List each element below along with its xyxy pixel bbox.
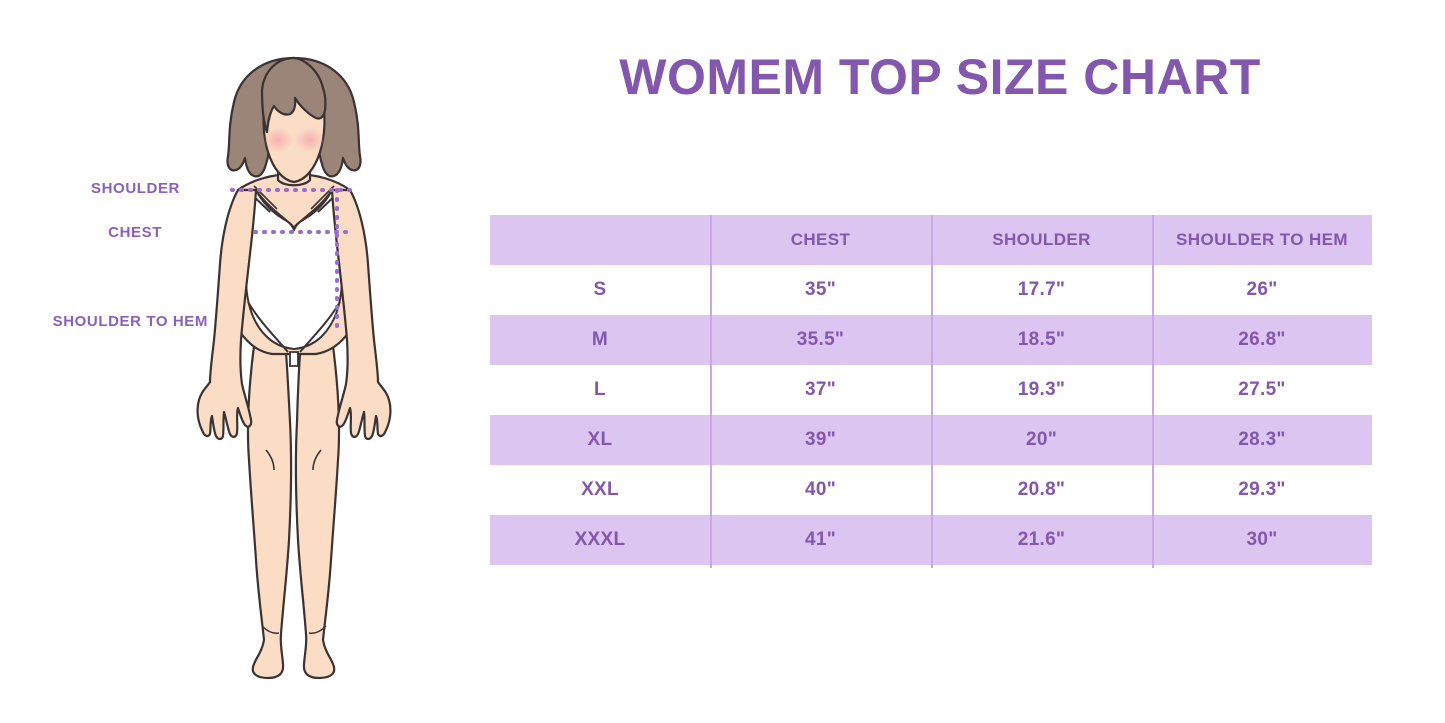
female-body-figure-svg bbox=[150, 40, 450, 690]
cell-chest: 39" bbox=[710, 415, 931, 465]
cell-size: L bbox=[490, 365, 710, 415]
cell-chest: 41" bbox=[710, 515, 931, 565]
column-header-chest: CHEST bbox=[710, 215, 931, 265]
table-column-separator bbox=[1152, 215, 1154, 568]
cell-size: S bbox=[490, 265, 710, 315]
blush-right-cheek bbox=[295, 128, 325, 152]
cell-shoulder: 17.7" bbox=[931, 265, 1152, 315]
table-column-separator bbox=[931, 215, 933, 568]
body-figure-illustration bbox=[150, 40, 450, 690]
left-leg bbox=[248, 325, 291, 678]
cell-shoulder: 18.5" bbox=[931, 315, 1152, 365]
page-title: WOMEM TOP SIZE CHART bbox=[480, 48, 1400, 106]
cell-shoulder-to-hem: 28.3" bbox=[1152, 415, 1372, 465]
cell-chest: 40" bbox=[710, 465, 931, 515]
cell-shoulder-to-hem: 26.8" bbox=[1152, 315, 1372, 365]
cell-shoulder: 20" bbox=[931, 415, 1152, 465]
cell-shoulder-to-hem: 29.3" bbox=[1152, 465, 1372, 515]
cell-chest: 35" bbox=[710, 265, 931, 315]
column-header-shoulder: SHOULDER bbox=[931, 215, 1152, 265]
cell-size: XXL bbox=[490, 465, 710, 515]
cell-chest: 35.5" bbox=[710, 315, 931, 365]
cell-shoulder: 19.3" bbox=[931, 365, 1152, 415]
cell-size: XL bbox=[490, 415, 710, 465]
cell-shoulder: 21.6" bbox=[931, 515, 1152, 565]
cell-shoulder-to-hem: 26" bbox=[1152, 265, 1372, 315]
cell-size: XXXL bbox=[490, 515, 710, 565]
right-leg bbox=[296, 325, 339, 678]
cell-size: M bbox=[490, 315, 710, 365]
legs-group bbox=[248, 325, 339, 678]
figure-body-group bbox=[198, 58, 391, 678]
garment-gusset bbox=[290, 352, 298, 366]
column-header-size bbox=[490, 215, 710, 265]
size-chart-page: WOMEM TOP SIZE CHART SHOULDER CHEST SHOU… bbox=[0, 0, 1445, 723]
column-header-shoulder-to-hem: SHOULDER TO HEM bbox=[1152, 215, 1372, 265]
cell-shoulder-to-hem: 30" bbox=[1152, 515, 1372, 565]
cell-chest: 37" bbox=[710, 365, 931, 415]
table-column-separator bbox=[710, 215, 712, 568]
cell-shoulder-to-hem: 27.5" bbox=[1152, 365, 1372, 415]
measurement-label-chest: CHEST bbox=[0, 224, 162, 241]
cell-shoulder: 20.8" bbox=[931, 465, 1152, 515]
